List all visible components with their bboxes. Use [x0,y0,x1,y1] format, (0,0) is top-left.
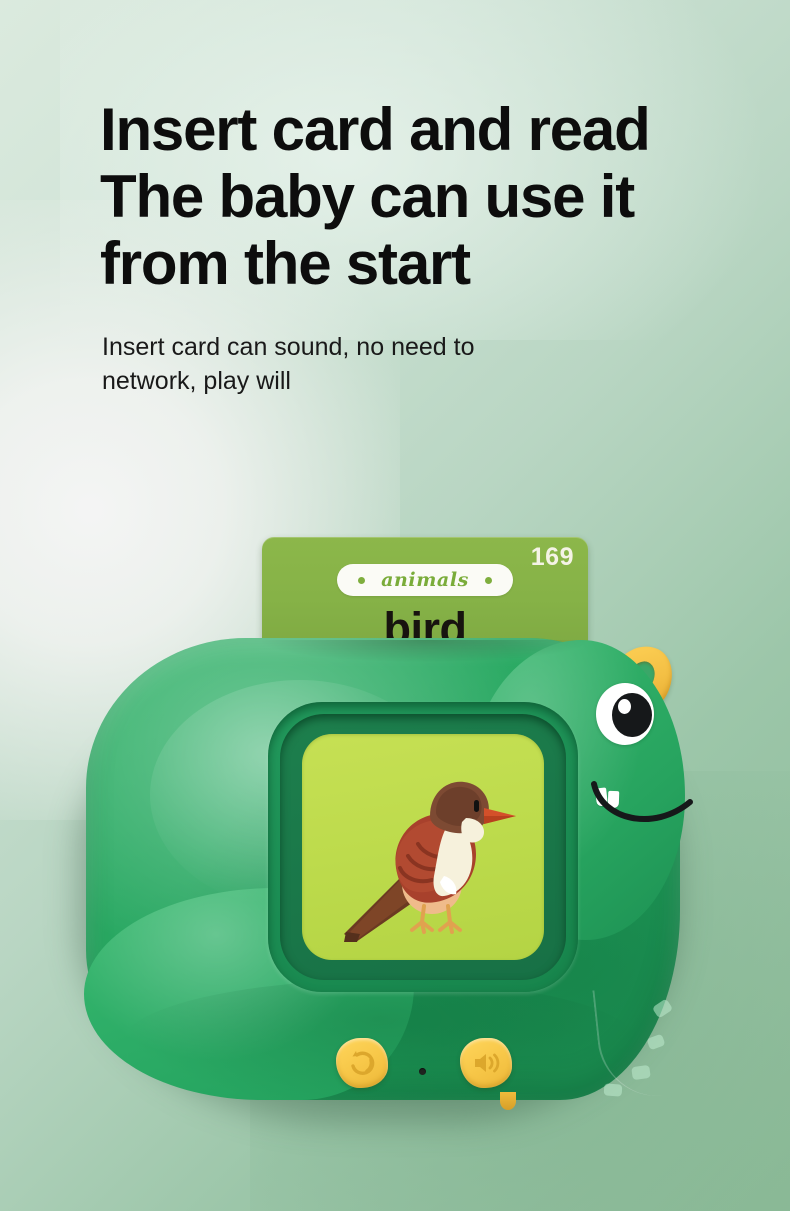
toe-4 [604,1083,623,1096]
mouth-smile [588,776,698,836]
subtitle-line-1: Insert card can sound, no need to [102,330,622,364]
card-slot-shadow [262,640,588,662]
eye-highlight [618,699,631,714]
headline-line-1: Insert card and read [100,96,780,163]
product-image: 169 animals bird [0,480,790,1160]
repeat-button[interactable] [336,1038,388,1088]
screen-bezel-outer [268,702,578,992]
eye-pupil [612,693,652,737]
screen-bezel-inner [280,714,566,980]
repeat-icon [347,1048,377,1078]
card-category-badge: animals [337,564,513,596]
subtitle: Insert card can sound, no need to networ… [102,330,622,398]
product-layers: 169 animals bird [0,480,790,1160]
screen-display[interactable] [302,734,544,960]
toe-3 [631,1065,651,1080]
headline-line-3: from the start [100,230,780,297]
speaker-icon [471,1050,501,1076]
volume-button[interactable] [460,1038,512,1088]
badge-dot-left [358,577,365,584]
card-number: 169 [531,543,574,572]
badge-dot-right [485,577,492,584]
card-category-label: animals [381,569,469,591]
headline-line-2: The baby can use it [100,163,780,230]
headline: Insert card and read The baby can use it… [100,96,780,298]
promo-page: Insert card and read The baby can use it… [0,0,790,1211]
microphone-dot [419,1068,426,1075]
subtitle-line-2: network, play will [102,364,622,398]
foot-peg [500,1092,516,1110]
bird-illustration [326,756,522,946]
